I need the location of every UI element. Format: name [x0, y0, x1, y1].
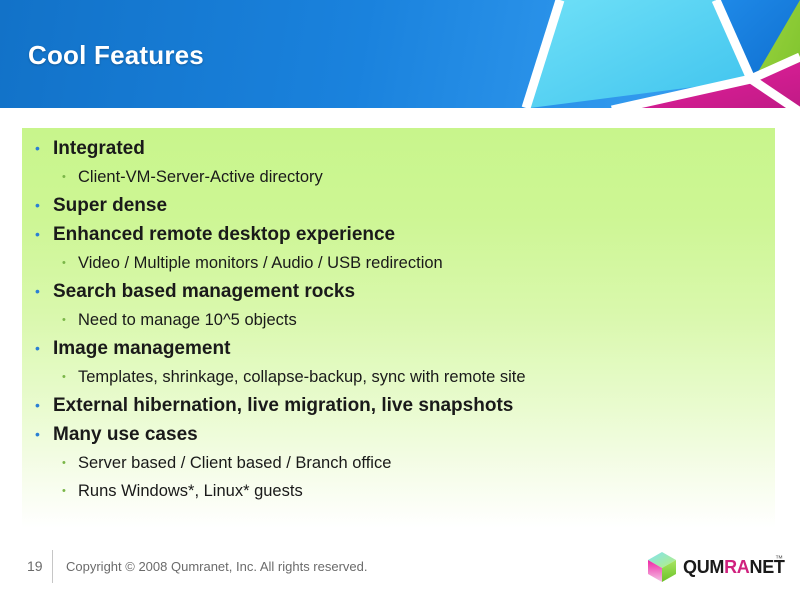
page-number: 19 [27, 558, 43, 574]
bullet-text: Video / Multiple monitors / Audio / USB … [78, 254, 443, 272]
bullet-marker-icon: • [35, 191, 40, 220]
bullet-text: Runs Windows*, Linux* guests [78, 482, 303, 500]
bullet-marker-icon: • [35, 134, 40, 163]
bullet-text: Templates, shrinkage, collapse-backup, s… [78, 368, 526, 386]
bullet-item-level2: •Video / Multiple monitors / Audio / USB… [22, 249, 775, 277]
bullet-item-level1: •Search based management rocks [22, 277, 775, 306]
bullet-text: Need to manage 10^5 objects [78, 311, 297, 329]
qumranet-logo: QUMRANET ™ [645, 548, 785, 588]
logo-wordmark: QUMRANET [683, 557, 785, 578]
bullet-text: Client-VM-Server-Active directory [78, 168, 323, 186]
bullet-item-level2: •Need to manage 10^5 objects [22, 306, 775, 334]
bullet-marker-icon: • [62, 449, 66, 477]
bullet-text: Image management [53, 338, 230, 359]
bullet-marker-icon: • [62, 477, 66, 505]
bullet-text: Integrated [53, 138, 145, 159]
cube-logo-icon [645, 550, 679, 584]
header-decoration-art [500, 0, 800, 108]
bullet-text: Enhanced remote desktop experience [53, 224, 395, 245]
bullet-text: Server based / Client based / Branch off… [78, 454, 391, 472]
bullet-marker-icon: • [62, 249, 66, 277]
bullet-marker-icon: • [35, 391, 40, 420]
bullet-item-level2: •Server based / Client based / Branch of… [22, 449, 775, 477]
bullet-item-level1: •Many use cases [22, 420, 775, 449]
content-panel: •Integrated•Client-VM-Server-Active dire… [22, 128, 775, 528]
bullet-item-level2: •Runs Windows*, Linux* guests [22, 477, 775, 505]
bullet-text: External hibernation, live migration, li… [53, 395, 513, 416]
bullet-item-level1: •Integrated [22, 134, 775, 163]
footer-divider [52, 550, 53, 583]
slide-root: Cool Features •Integrated•Client-VM-Serv… [0, 0, 800, 600]
bullet-item-level1: •Image management [22, 334, 775, 363]
copyright-notice: Copyright © 2008 Qumranet, Inc. All righ… [66, 559, 368, 574]
bullet-marker-icon: • [35, 220, 40, 249]
bullet-text: Super dense [53, 195, 167, 216]
bullet-marker-icon: • [62, 363, 66, 391]
bullet-marker-icon: • [35, 420, 40, 449]
slide-header: Cool Features [0, 0, 800, 108]
bullet-item-level1: •Super dense [22, 191, 775, 220]
bullet-item-level2: •Client-VM-Server-Active directory [22, 163, 775, 191]
feature-bullet-list: •Integrated•Client-VM-Server-Active dire… [22, 134, 775, 505]
bullet-item-level2: •Templates, shrinkage, collapse-backup, … [22, 363, 775, 391]
bullet-item-level1: •External hibernation, live migration, l… [22, 391, 775, 420]
bullet-text: Search based management rocks [53, 281, 355, 302]
bullet-marker-icon: • [35, 334, 40, 363]
trademark-symbol: ™ [775, 554, 783, 563]
bullet-text: Many use cases [53, 424, 198, 445]
logo-text-part-1: QUM [683, 557, 724, 577]
page-title: Cool Features [28, 40, 204, 71]
logo-text-part-2: RA [724, 557, 749, 577]
bullet-marker-icon: • [35, 277, 40, 306]
bullet-item-level1: •Enhanced remote desktop experience [22, 220, 775, 249]
bullet-marker-icon: • [62, 163, 66, 191]
bullet-marker-icon: • [62, 306, 66, 334]
